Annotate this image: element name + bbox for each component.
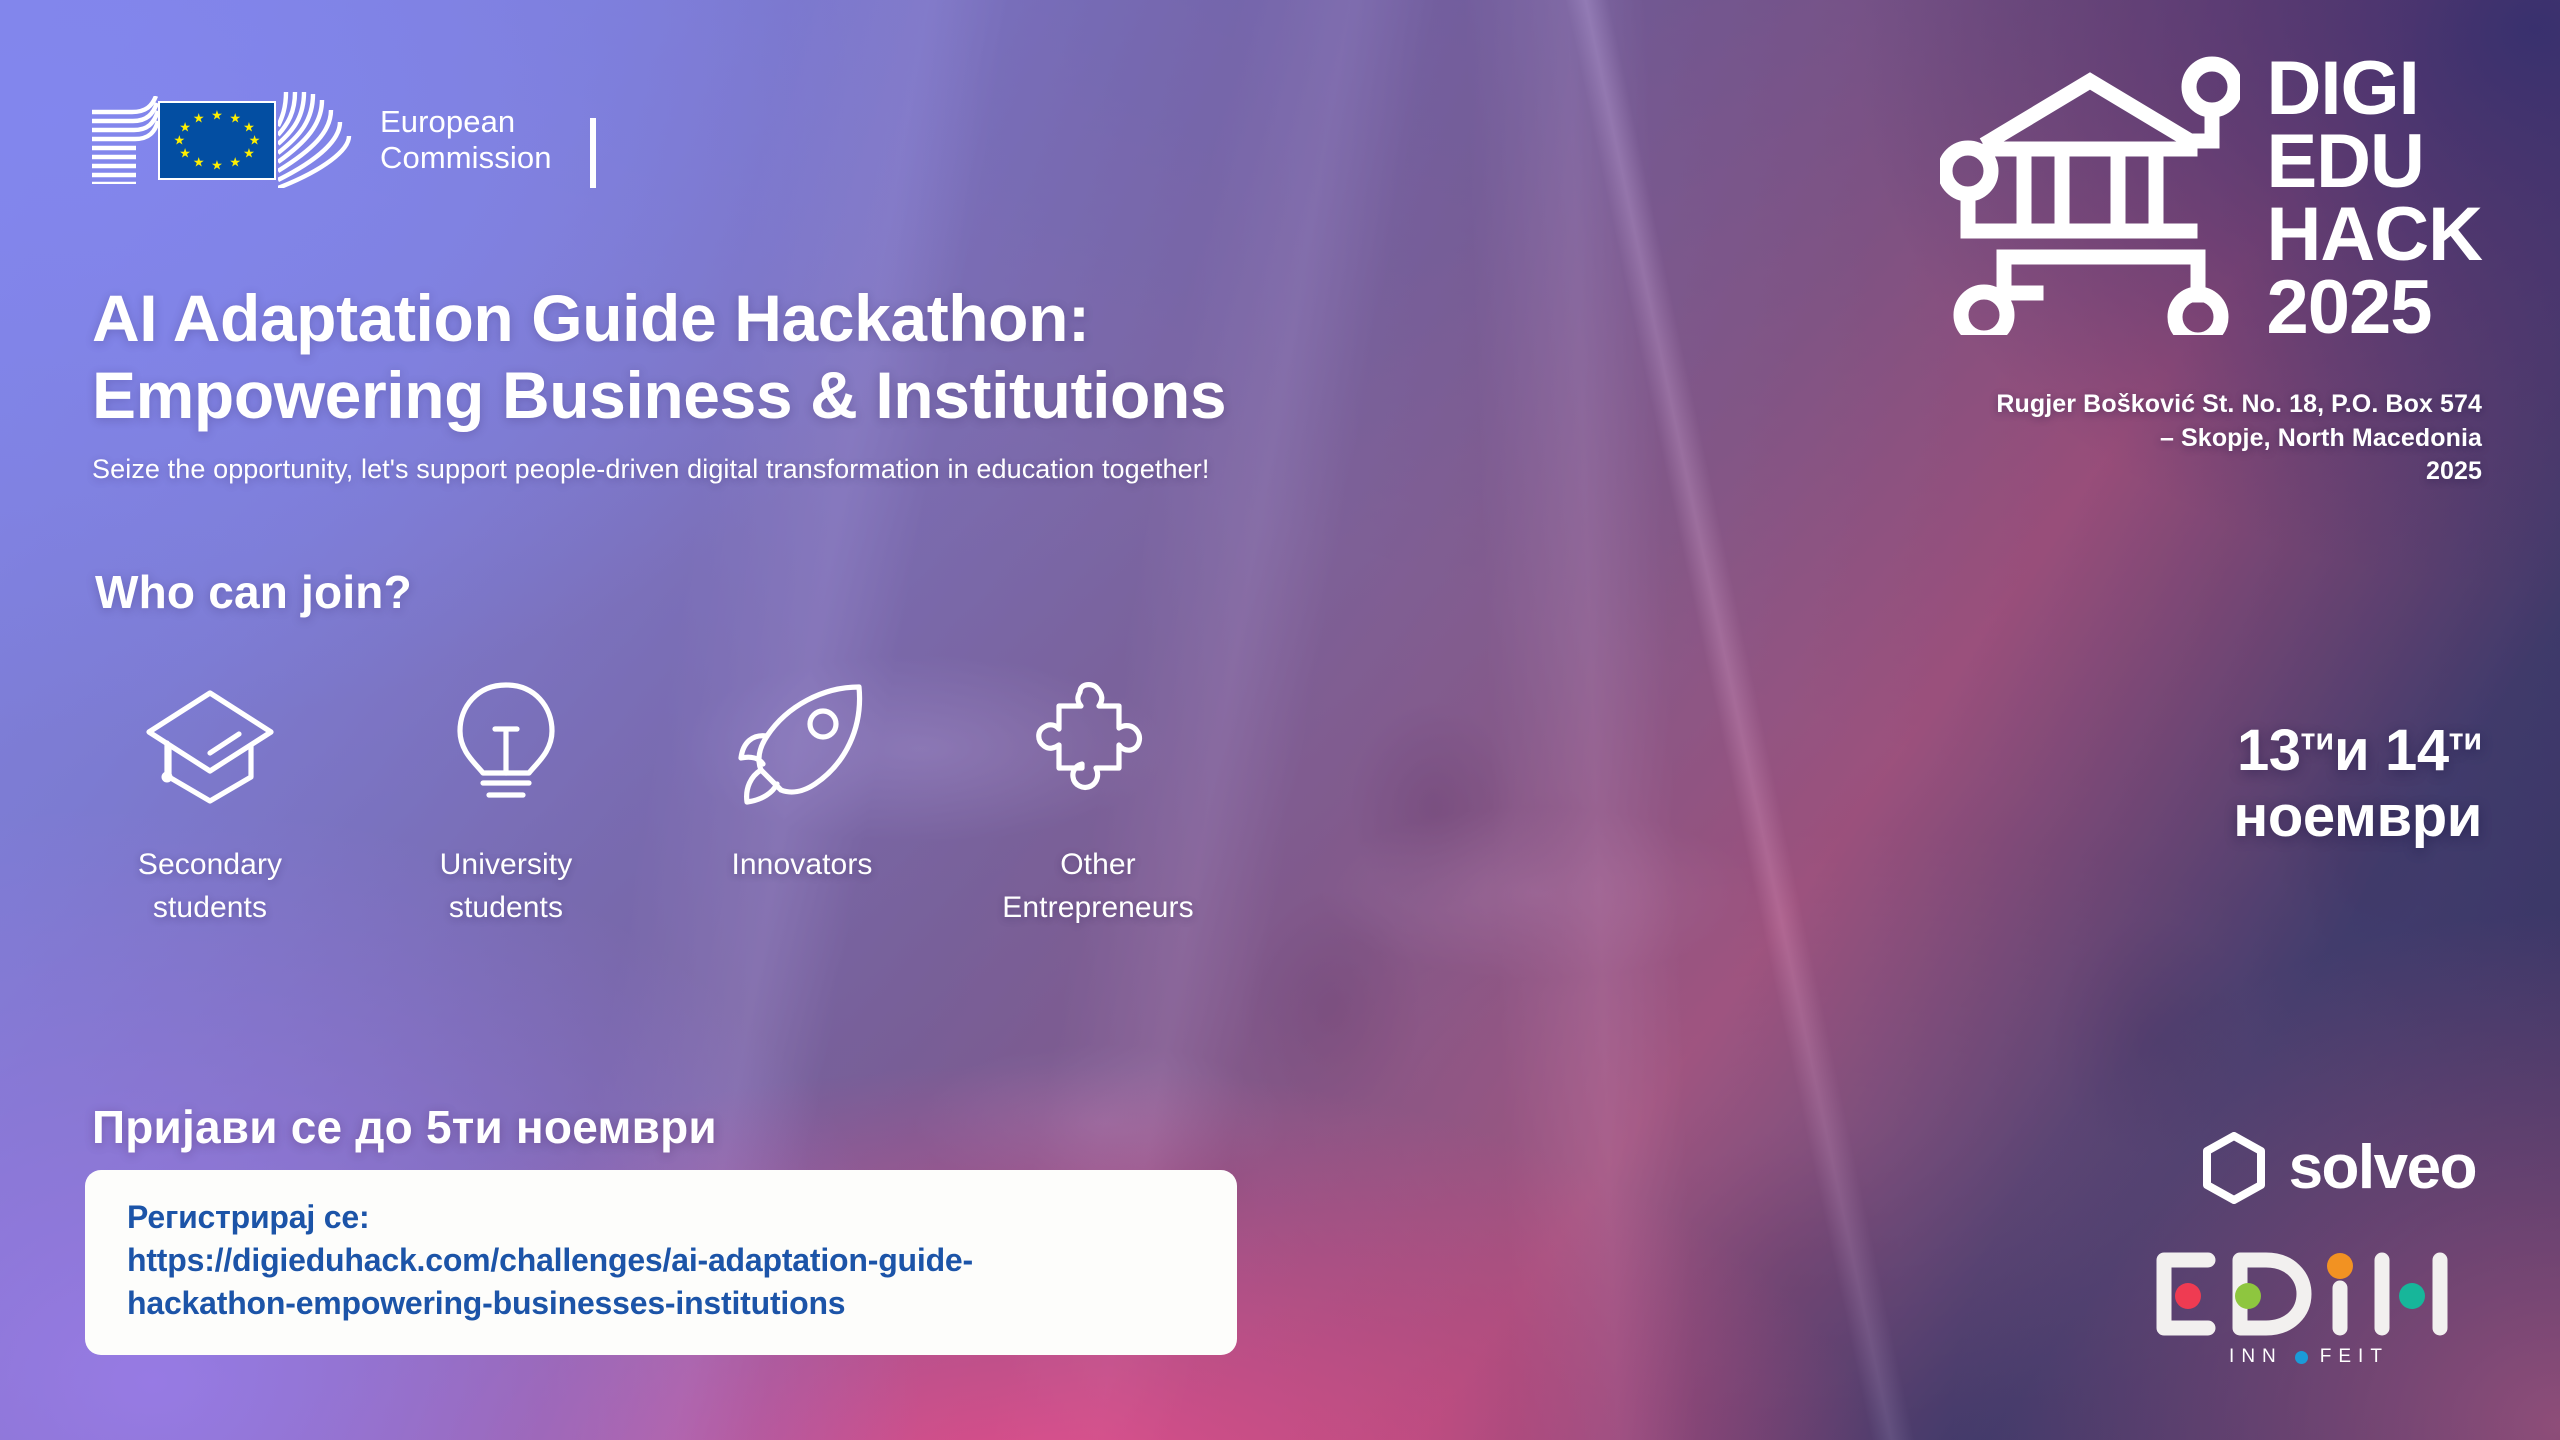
ec-line-1: European [380, 104, 552, 140]
event-date: 13тии 14ти ноември [2233, 718, 2482, 850]
address-line-1: Rugjer Bošković St. No. 18, P.O. Box 574 [1996, 388, 2482, 422]
page-title: AI Adaptation Guide Hackathon: Empowerin… [92, 280, 1226, 433]
edih-logo: INN FEIT [2144, 1248, 2474, 1368]
european-commission-logo: ★ ★ ★ ★ ★ ★ ★ ★ ★ ★ ★ ★ [92, 92, 596, 188]
edih-sub-left: INN [2229, 1346, 2283, 1368]
audience-label-line-2: students [449, 891, 563, 924]
audience-item-other-entrepreneurs: Other Entrepreneurs [998, 680, 1198, 929]
audience-label-line-1: University [440, 848, 573, 881]
event-date-days: 13тии 14ти [2233, 718, 2482, 784]
page-subtitle: Seize the opportunity, let's support peo… [92, 454, 1209, 485]
edih-sub-right: FEIT [2320, 1346, 2389, 1368]
audience-heading: Who can join? [95, 565, 412, 619]
logo-divider [590, 118, 596, 188]
edih-dot-blue [2295, 1351, 2308, 1364]
audience-item-innovators: Innovators [702, 680, 902, 929]
eu-flag-rect: ★ ★ ★ ★ ★ ★ ★ ★ ★ ★ ★ ★ [158, 101, 276, 180]
title-line-1: AI Adaptation Guide Hackathon: [92, 280, 1226, 357]
eu-flag-icon: ★ ★ ★ ★ ★ ★ ★ ★ ★ ★ ★ ★ [92, 92, 358, 188]
audience-label-line-1: Other [1060, 848, 1136, 881]
title-line-2: Empowering Business & Institutions [92, 357, 1226, 434]
poster-root: ★ ★ ★ ★ ★ ★ ★ ★ ★ ★ ★ ★ [0, 0, 2560, 1440]
audience-label: Innovators [731, 844, 872, 887]
event-day-2-suffix: ти [2449, 724, 2482, 757]
ec-line-2: Commission [380, 140, 552, 176]
digieduhack-logo: DIGI EDU HACK 2025 [1940, 45, 2482, 345]
audience-item-secondary-students: Secondary students [110, 680, 310, 929]
deh-word-edu: EDU [2266, 126, 2482, 199]
edih-dot-orange [2327, 1253, 2353, 1279]
deh-word-digi: DIGI [2266, 53, 2482, 126]
audience-label: University students [440, 844, 573, 929]
event-day-1: 13 [2237, 718, 2301, 783]
event-day-1-suffix: ти [2301, 724, 2334, 757]
registration-cta-label: Регистрирај се: [127, 1196, 1197, 1239]
graduation-cap-icon [143, 680, 277, 810]
audience-label-line-2: Entrepreneurs [1002, 891, 1193, 924]
audience-label: Secondary students [138, 844, 282, 929]
registration-url-line-1[interactable]: https://digieduhack.com/challenges/ai-ad… [127, 1239, 1197, 1282]
event-day-2: 14 [2385, 718, 2449, 783]
puzzle-piece-icon [1033, 680, 1163, 810]
audience-list: Secondary students [110, 680, 1198, 929]
address-line-2: – Skopje, North Macedonia [1996, 422, 2482, 456]
european-commission-wordmark: European Commission [380, 104, 552, 176]
venue-address: Rugjer Bošković St. No. 18, P.O. Box 574… [1996, 388, 2482, 489]
rocket-icon [737, 680, 867, 810]
audience-label-line-2: students [153, 891, 267, 924]
deh-word-hack: HACK [2266, 199, 2482, 272]
edih-dot-teal [2399, 1283, 2425, 1309]
audience-label-line-1: Innovators [731, 848, 872, 881]
edih-wordmark-icon [2144, 1248, 2474, 1340]
edih-subtitle: INN FEIT [2144, 1346, 2474, 1368]
registration-url-line-2[interactable]: hackathon-empowering-businesses-institut… [127, 1282, 1197, 1325]
hexagon-icon [2201, 1132, 2267, 1204]
event-date-conjunction: и [2334, 718, 2369, 783]
solveo-wordmark: solveo [2289, 1137, 2476, 1199]
eu-stars: ★ ★ ★ ★ ★ ★ ★ ★ ★ ★ ★ ★ [160, 103, 274, 178]
edih-dot-green [2235, 1283, 2261, 1309]
poster-content: ★ ★ ★ ★ ★ ★ ★ ★ ★ ★ ★ ★ [0, 0, 2560, 1440]
event-month: ноември [2233, 784, 2482, 850]
address-line-3: 2025 [1996, 455, 2482, 489]
edih-dot-red [2175, 1283, 2201, 1309]
audience-item-university-students: University students [406, 680, 606, 929]
registration-box[interactable]: Регистрирај се: https://digieduhack.com/… [85, 1170, 1237, 1355]
lightbulb-icon [453, 680, 559, 810]
audience-label-line-1: Secondary [138, 848, 282, 881]
solveo-logo: solveo [2201, 1132, 2476, 1204]
registration-deadline: Пријави се до 5ти ноември [92, 1100, 717, 1154]
deh-word-year: 2025 [2266, 272, 2482, 345]
digieduhack-wordmark: DIGI EDU HACK 2025 [2266, 45, 2482, 345]
institution-network-icon [1940, 45, 2240, 335]
audience-label: Other Entrepreneurs [1002, 844, 1193, 929]
